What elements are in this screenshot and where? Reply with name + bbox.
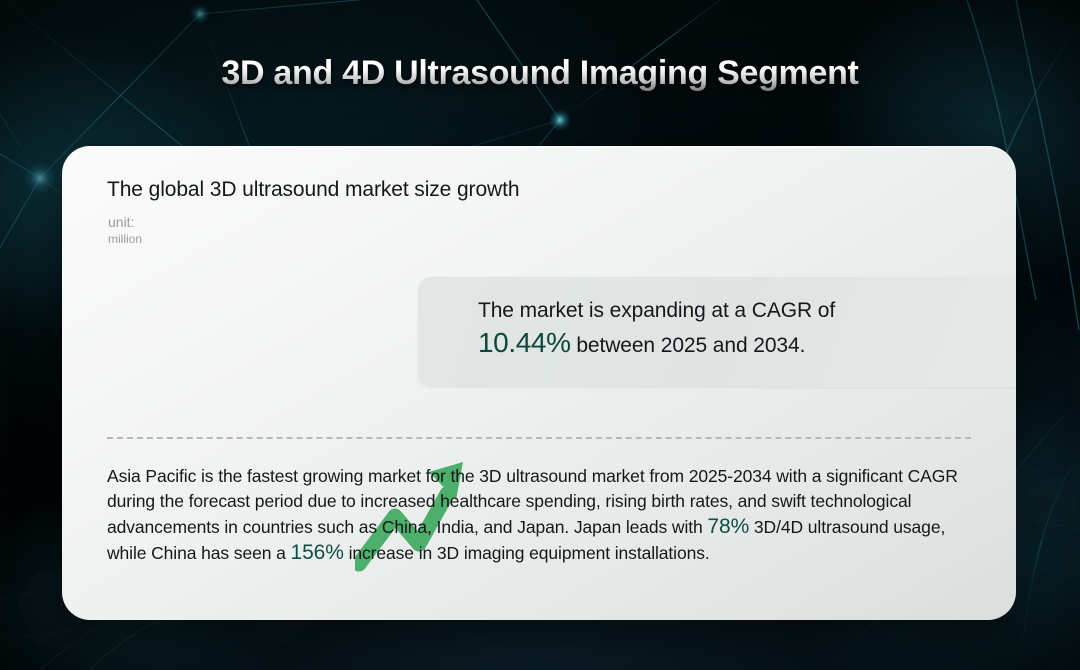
- page-title: 3D and 4D Ultrasound Imaging Segment: [0, 54, 1080, 93]
- cagr-suffix: between 2025 and 2034.: [571, 334, 806, 357]
- cagr-callout-panel: The market is expanding at a CAGR of 10.…: [418, 277, 1016, 387]
- cagr-line-1: The market is expanding at a CAGR of: [478, 299, 1016, 323]
- cagr-line-2: 10.44% between 2025 and 2034.: [478, 327, 1016, 359]
- highlight-china-percent: 156%: [291, 541, 344, 564]
- highlight-japan-percent: 78%: [707, 515, 749, 538]
- cagr-value: 10.44%: [478, 327, 571, 358]
- paragraph-part-3: increase in 3D imaging equipment install…: [344, 543, 710, 563]
- section-divider: [107, 437, 971, 439]
- insight-paragraph: Asia Pacific is the fastest growing mark…: [107, 464, 987, 566]
- content-card: The global 3D ultrasound market size gro…: [62, 146, 1016, 620]
- cagr-text: The market is expanding at a CAGR of 10.…: [478, 299, 1016, 359]
